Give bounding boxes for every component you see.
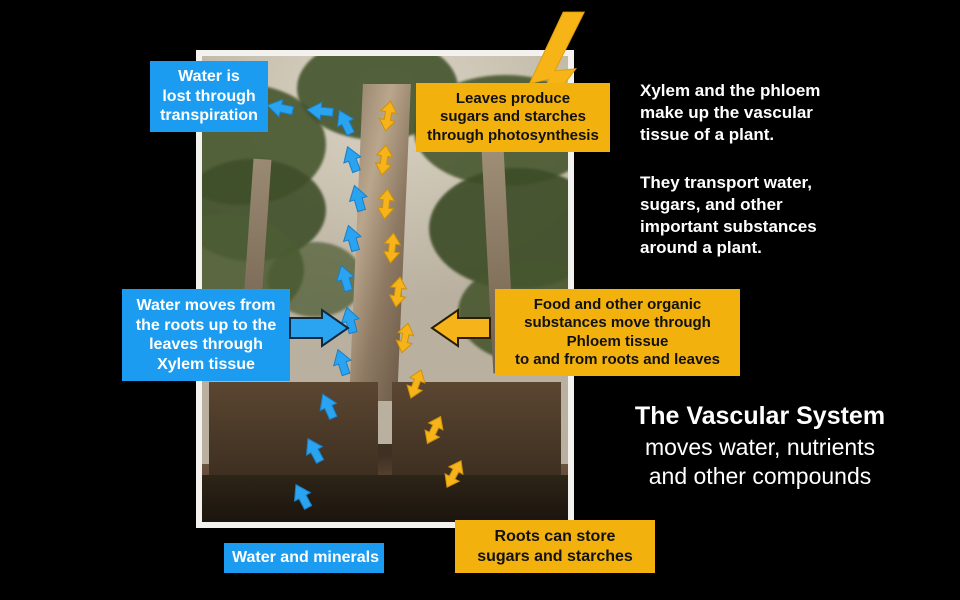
diagram-canvas: Water is lost through transpiration Leav…	[0, 0, 960, 600]
label-line: Water and minerals	[232, 548, 376, 568]
label-line: substances move through	[501, 314, 734, 332]
blue-right-arrow-icon	[288, 308, 352, 348]
label-roots-store[interactable]: Roots can store sugars and starches	[455, 520, 655, 573]
label-line: sugars and starches	[424, 108, 602, 126]
copy-line: important substances	[640, 216, 817, 238]
label-xylem[interactable]: Water moves from the roots up to the lea…	[122, 289, 290, 381]
copy-line: around a plant.	[640, 237, 817, 259]
label-line: leaves through	[130, 335, 282, 355]
headline-subtitle: moves water, nutrients	[580, 433, 940, 463]
label-line: lost through	[158, 87, 260, 107]
copy-line: They transport water,	[640, 172, 817, 194]
label-line: the roots up to the	[130, 316, 282, 336]
yellow-left-arrow-icon	[428, 308, 492, 348]
label-transpiration[interactable]: Water is lost through transpiration	[150, 61, 268, 132]
label-line: Food and other organic	[501, 296, 734, 314]
label-line-emphasis: Xylem tissue	[130, 355, 282, 375]
headline-block: The Vascular System moves water, nutrien…	[580, 400, 940, 492]
vascular-tissue-paragraph: Xylem and the phloem make up the vascula…	[640, 80, 820, 145]
label-line: to and from roots and leaves	[501, 351, 734, 369]
label-line: Roots can store	[463, 527, 647, 547]
label-line: through photosynthesis	[424, 127, 602, 145]
label-line: Water moves from	[130, 296, 282, 316]
label-line: transpiration	[158, 106, 260, 126]
label-line: Leaves produce	[424, 90, 602, 108]
phloem-flow-arrows	[374, 100, 468, 491]
headline-subtitle: and other compounds	[580, 462, 940, 492]
copy-line: Xylem and the phloem	[640, 80, 820, 102]
label-photosynthesis[interactable]: Leaves produce sugars and starches throu…	[416, 83, 610, 152]
label-line: sugars and starches	[463, 547, 647, 567]
label-line-emphasis: Phloem tissue	[501, 333, 734, 351]
label-phloem[interactable]: Food and other organic substances move t…	[495, 289, 740, 376]
label-line: Water is	[158, 67, 260, 87]
label-water-and-minerals[interactable]: Water and minerals	[224, 543, 384, 573]
transport-paragraph: They transport water, sugars, and other …	[640, 172, 817, 259]
copy-line: tissue of a plant.	[640, 124, 820, 146]
copy-line: sugars, and other	[640, 194, 817, 216]
headline-title: The Vascular System	[580, 400, 940, 433]
copy-line: make up the vascular	[640, 102, 820, 124]
